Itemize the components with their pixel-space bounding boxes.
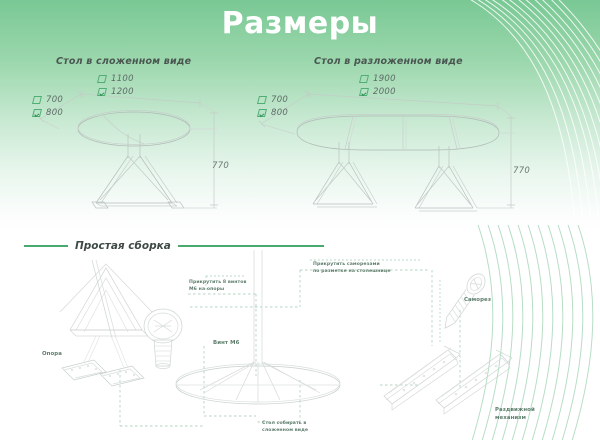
option-row[interactable]: 800: [33, 107, 63, 118]
folded-width-options: 1100 1200: [98, 73, 134, 99]
option-row[interactable]: 1100: [98, 73, 134, 84]
option-row[interactable]: 2000: [360, 86, 396, 97]
unfolded-table-drawing: [253, 72, 543, 212]
option-row[interactable]: 1900: [360, 73, 396, 84]
folded-table-drawing: [24, 72, 274, 212]
checkbox-checked-icon[interactable]: [97, 88, 107, 96]
option-value: 2000: [373, 87, 396, 97]
unfolded-section-heading: Стол в разложенном виде: [314, 56, 463, 67]
option-value: 800: [271, 108, 288, 118]
checkbox-checked-icon[interactable]: [359, 88, 369, 96]
divider-line-left: [24, 245, 68, 246]
page-title: Размеры: [0, 6, 600, 41]
option-value: 700: [271, 95, 288, 105]
folded-depth-options: 700 800: [33, 94, 63, 120]
option-value: 1200: [111, 87, 134, 97]
unfolded-width-options: 1900 2000: [360, 73, 396, 99]
unfolded-height-label: 770: [513, 166, 530, 176]
folded-section-heading: Стол в сложенном виде: [56, 56, 191, 67]
option-row[interactable]: 700: [258, 94, 288, 105]
divider-line-right: [178, 245, 324, 246]
checkbox-checked-icon[interactable]: [32, 109, 42, 117]
part-label-slide-mechanism: Раздвижной механизм: [495, 406, 535, 422]
checkbox-unchecked-icon[interactable]: [359, 75, 369, 83]
assembly-note-screws: Прикрутить 8 винтов М6 на опоры: [189, 280, 247, 294]
infographic-page: Размеры Стол в сложенном виде Стол в раз…: [0, 0, 600, 440]
option-row[interactable]: 700: [33, 94, 63, 105]
checkbox-unchecked-icon[interactable]: [32, 96, 42, 104]
assembly-footnote: Стол собирать в сложенном виде: [262, 421, 308, 435]
option-value: 1100: [111, 74, 134, 84]
checkbox-unchecked-icon[interactable]: [257, 96, 267, 104]
unfolded-depth-options: 700 800: [258, 94, 288, 120]
checkbox-checked-icon[interactable]: [257, 109, 267, 117]
checkbox-unchecked-icon[interactable]: [97, 75, 107, 83]
option-value: 700: [46, 95, 63, 105]
option-value: 1900: [373, 74, 396, 84]
part-label-screw: Саморез: [464, 296, 491, 304]
part-label-bolt: Винт М6: [213, 339, 239, 347]
option-row[interactable]: 800: [258, 107, 288, 118]
part-label-support: Опора: [42, 350, 62, 358]
option-value: 800: [46, 108, 63, 118]
assembly-note-selftapping: Прикрутить саморезами по разметке на сто…: [313, 262, 391, 276]
folded-height-label: 770: [212, 161, 229, 171]
option-row[interactable]: 1200: [98, 86, 134, 97]
